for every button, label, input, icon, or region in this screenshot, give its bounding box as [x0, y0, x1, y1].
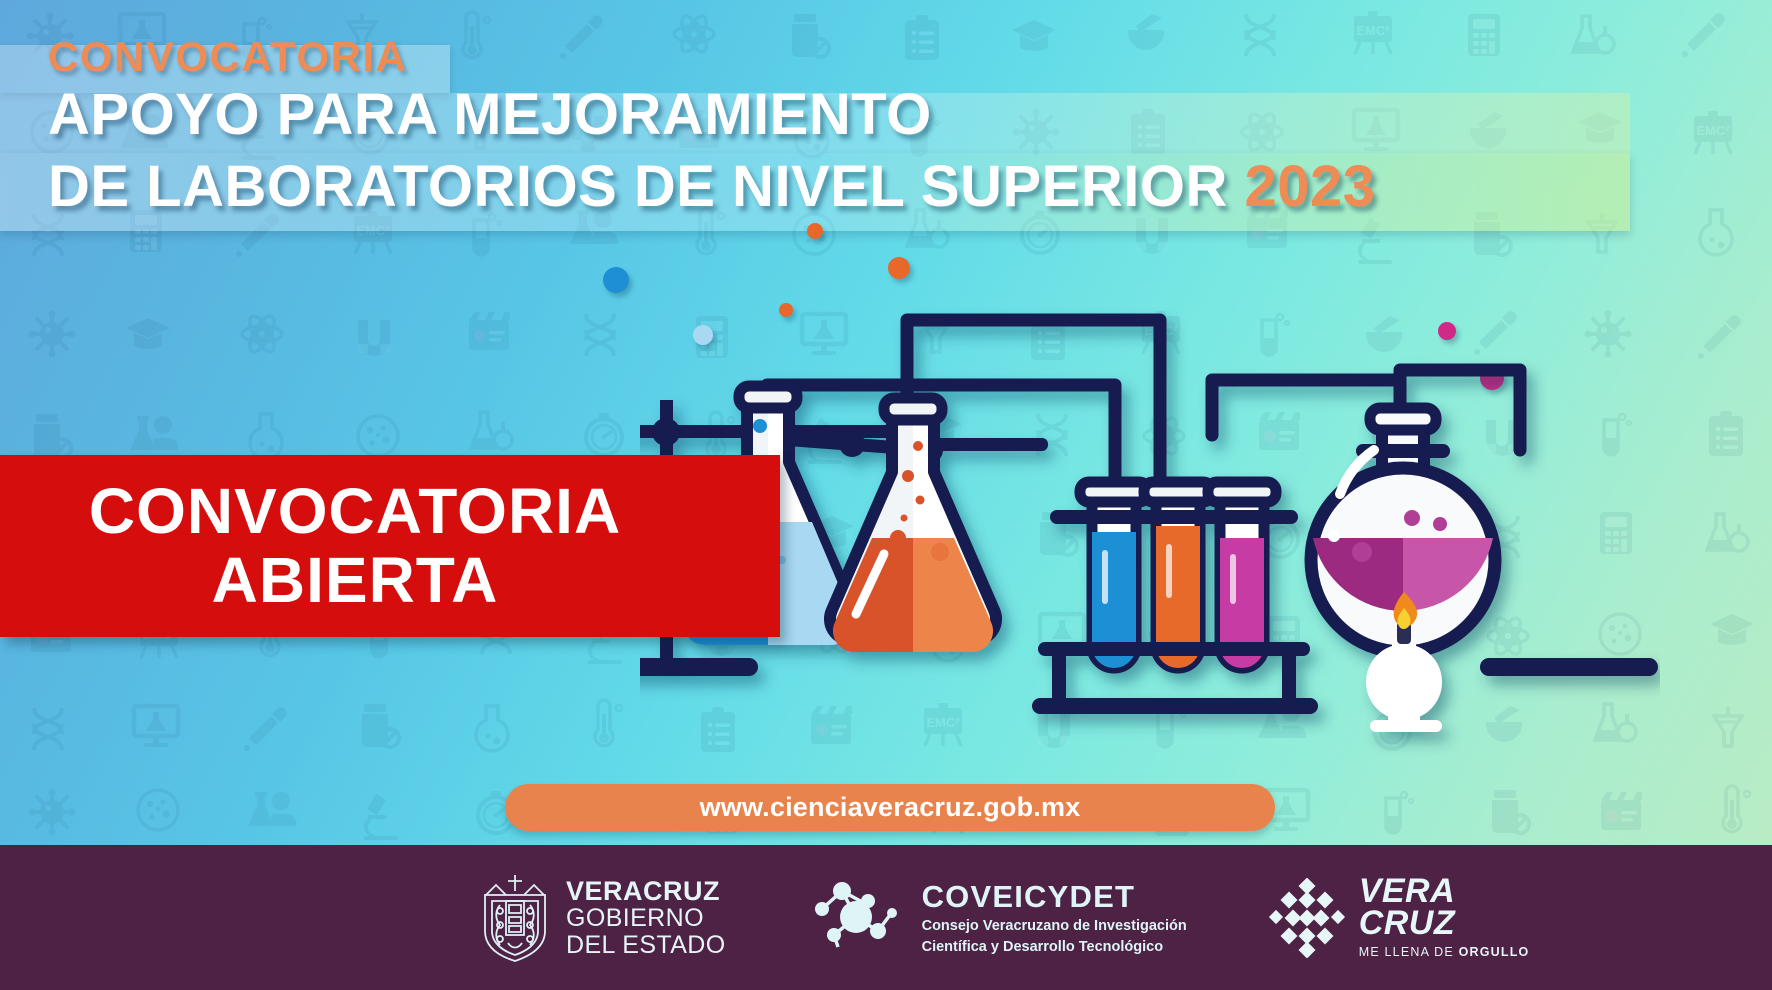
rack-top-bar	[1050, 510, 1298, 524]
gobierno-line-1: VERACRUZ	[566, 877, 726, 906]
veracruz-orgullo-wordmark: VERA CRUZ ME LLENA DE ORGULLO	[1359, 876, 1530, 959]
kicker-label: CONVOCATORIA	[48, 36, 1376, 78]
gobierno-wordmark: VERACRUZ GOBIERNO DEL ESTADO	[566, 877, 726, 959]
headline-block: CONVOCATORIA APOYO PARA MEJORAMIENTO DE …	[48, 36, 1376, 216]
laboratory-illustration	[640, 250, 1660, 775]
promotional-banner: EMC²	[0, 0, 1772, 990]
logo-coveicydet: COVEICYDET Consejo Veracruzano de Invest…	[804, 877, 1187, 959]
title-line-2: DE LABORATORIOS DE NIVEL SUPERIOR 2023	[48, 158, 1376, 216]
coveicydet-subtitle-2: Científica y Desarrollo Tecnológico	[922, 938, 1187, 956]
right-stand-base	[1480, 658, 1658, 676]
lab-apparatus-svg	[640, 250, 1660, 770]
title-line-1: APOYO PARA MEJORAMIENTO	[48, 86, 1376, 144]
decor-dot	[807, 223, 823, 239]
rack-base	[1032, 698, 1318, 714]
open-call-line-1: CONVOCATORIA	[89, 479, 621, 544]
orgullo-tagline-strong: ORGULLO	[1459, 945, 1530, 959]
open-call-banner: CONVOCATORIA ABIERTA	[0, 455, 780, 637]
logo-veracruz-orgullo: VERA CRUZ ME LLENA DE ORGULLO	[1267, 876, 1530, 959]
orgullo-line-2: CRUZ	[1359, 908, 1530, 940]
veracruz-coat-of-arms-icon	[478, 871, 552, 965]
logo-veracruz-gobierno: VERACRUZ GOBIERNO DEL ESTADO	[478, 871, 726, 965]
test-tube-orange	[1144, 482, 1212, 668]
open-call-line-2: ABIERTA	[212, 548, 499, 613]
coveicydet-wordmark: COVEICYDET Consejo Veracruzano de Invest…	[922, 879, 1187, 955]
website-url-pill[interactable]: www.cienciaveracruz.gob.mx	[505, 784, 1275, 831]
orgullo-tagline: ME LLENA DE ORGULLO	[1359, 945, 1530, 959]
footer-logo-bar: VERACRUZ GOBIERNO DEL ESTADO	[0, 845, 1772, 990]
test-tube-magenta	[1208, 482, 1276, 668]
test-tube-blue	[1080, 482, 1148, 668]
coveicydet-subtitle-1: Consejo Veracruzano de Investigación	[922, 917, 1187, 935]
title-year: 2023	[1245, 154, 1376, 219]
gobierno-line-3: DEL ESTADO	[566, 932, 726, 959]
title-line-2-text: DE LABORATORIOS DE NIVEL SUPERIOR	[48, 154, 1228, 219]
test-tube-rack	[1032, 482, 1318, 714]
diamond-pattern-icon	[1267, 878, 1347, 958]
website-url-text: www.cienciaveracruz.gob.mx	[700, 792, 1081, 823]
gobierno-line-2: GOBIERNO	[566, 905, 726, 932]
orgullo-tagline-prefix: ME LLENA DE	[1359, 945, 1459, 959]
coveicydet-name: COVEICYDET	[922, 879, 1187, 915]
decor-dot	[603, 267, 629, 293]
apparatus-group	[640, 320, 1658, 732]
molecule-network-icon	[804, 877, 908, 959]
